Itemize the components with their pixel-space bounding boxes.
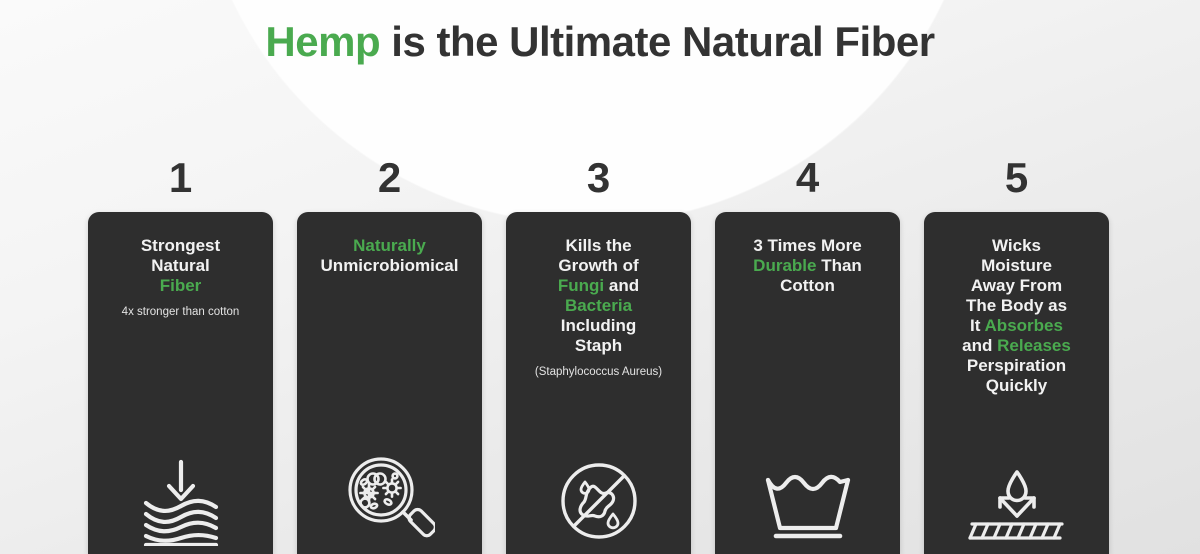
card-title-line: The Body as bbox=[966, 296, 1067, 315]
no-stain-prohibited-icon bbox=[506, 454, 691, 546]
card-title-line: Strongest bbox=[141, 236, 220, 255]
card-number-5: 5 bbox=[924, 150, 1109, 212]
card-body-3[interactable]: Kills the Growth of Fungi and Bacteria I… bbox=[506, 212, 691, 554]
card-subtitle-1: 4x stronger than cotton bbox=[122, 305, 240, 319]
wash-tub-care-symbol-icon bbox=[715, 454, 900, 546]
card-number-2: 2 bbox=[297, 150, 482, 212]
card-title-line: Away From bbox=[971, 276, 1062, 295]
card-title-highlight: Naturally bbox=[353, 236, 426, 255]
card-title-2: Naturally Unmicrobiomical bbox=[321, 236, 459, 276]
card-title-highlight: Fiber bbox=[160, 276, 202, 295]
page-title: Hemp is the Ultimate Natural Fiber bbox=[0, 18, 1200, 66]
card-title-1: Strongest Natural Fiber bbox=[141, 236, 220, 296]
card-title-line: Unmicrobiomical bbox=[321, 256, 459, 275]
card-title-line: and bbox=[604, 276, 639, 295]
card-title-line: and bbox=[962, 336, 997, 355]
page-title-highlight: Hemp bbox=[265, 18, 380, 65]
card-title-line: Staph bbox=[575, 336, 622, 355]
card-title-line: Moisture bbox=[981, 256, 1052, 275]
card-title-line: Kills the bbox=[565, 236, 631, 255]
page-title-rest: is the Ultimate Natural Fiber bbox=[380, 18, 934, 65]
benefit-card-5: 5 Wicks Moisture Away From The Body as I… bbox=[924, 150, 1109, 554]
card-number-3: 3 bbox=[506, 150, 691, 212]
card-title-line: 3 Times More bbox=[753, 236, 861, 255]
card-title-line: Including bbox=[561, 316, 637, 335]
infographic-stage: Hemp is the Ultimate Natural Fiber 1 Str… bbox=[0, 0, 1200, 554]
card-title-line: Wicks bbox=[992, 236, 1041, 255]
card-title-line: Quickly bbox=[986, 376, 1047, 395]
card-title-highlight: Fungi bbox=[558, 276, 604, 295]
card-title-5: Wicks Moisture Away From The Body as It … bbox=[962, 236, 1071, 396]
card-title-4: 3 Times More Durable Than Cotton bbox=[753, 236, 862, 296]
card-body-2[interactable]: Naturally Unmicrobiomical bbox=[297, 212, 482, 554]
card-title-line: Than bbox=[816, 256, 861, 275]
card-title-3: Kills the Growth of Fungi and Bacteria I… bbox=[558, 236, 639, 356]
benefit-card-1: 1 Strongest Natural Fiber 4x stronger th… bbox=[88, 150, 273, 554]
arrow-down-onto-fabric-layers-icon bbox=[88, 454, 273, 546]
card-body-5[interactable]: Wicks Moisture Away From The Body as It … bbox=[924, 212, 1109, 554]
card-title-highlight: Durable bbox=[753, 256, 816, 275]
benefit-card-list: 1 Strongest Natural Fiber 4x stronger th… bbox=[88, 150, 1124, 554]
droplet-deflecting-fabric-weave-icon bbox=[924, 454, 1109, 546]
card-title-line: It bbox=[970, 316, 984, 335]
card-title-line: Cotton bbox=[780, 276, 835, 295]
card-subtitle-3: (Staphylococcus Aureus) bbox=[535, 365, 662, 379]
card-number-1: 1 bbox=[88, 150, 273, 212]
card-title-highlight: Releases bbox=[997, 336, 1071, 355]
card-title-line: Perspiration bbox=[967, 356, 1066, 375]
benefit-card-2: 2 Naturally Unmicrobiomical bbox=[297, 150, 482, 554]
card-body-1[interactable]: Strongest Natural Fiber 4x stronger than… bbox=[88, 212, 273, 554]
benefit-card-3: 3 Kills the Growth of Fungi and Bacteria… bbox=[506, 150, 691, 554]
magnifier-with-microbes-icon bbox=[297, 454, 482, 546]
card-title-line: Growth of bbox=[558, 256, 638, 275]
card-title-highlight: Bacteria bbox=[565, 296, 632, 315]
benefit-card-4: 4 3 Times More Durable Than Cotton bbox=[715, 150, 900, 554]
card-body-4[interactable]: 3 Times More Durable Than Cotton bbox=[715, 212, 900, 554]
card-title-highlight: Absorbes bbox=[985, 316, 1063, 335]
card-number-4: 4 bbox=[715, 150, 900, 212]
card-title-line: Natural bbox=[151, 256, 210, 275]
